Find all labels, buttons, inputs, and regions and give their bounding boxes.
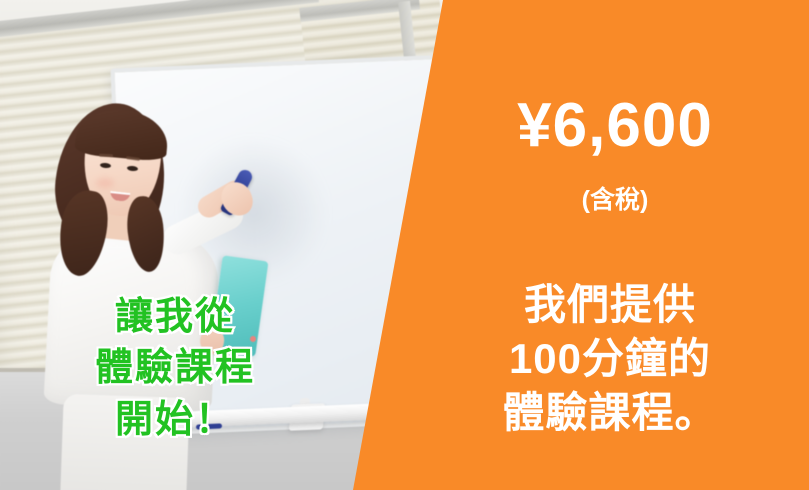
offer-line-1: 我們提供 <box>430 278 790 332</box>
headline-line-3: 開始！ <box>40 395 310 446</box>
offer-line-2: 100分鐘的 <box>430 332 790 386</box>
price-tax-note: (含稅) <box>440 188 790 213</box>
headline-line-2: 體驗課程 <box>40 343 310 394</box>
offer-line-3: 體驗課程。 <box>430 386 790 440</box>
offer-text-block: 我們提供 100分鐘的 體驗課程。 <box>430 278 790 439</box>
headline-block: 讓我從 體驗課程 開始！ <box>40 292 310 446</box>
eyebrow-left <box>99 154 113 157</box>
headline-line-1: 讓我從 <box>40 292 310 343</box>
cheek-blush <box>96 178 114 188</box>
price-amount: ¥6,600 <box>440 95 790 157</box>
promo-banner: ¥6,600 (含稅) 我們提供 100分鐘的 體驗課程。 讓我從 體驗課程 開… <box>0 0 809 490</box>
